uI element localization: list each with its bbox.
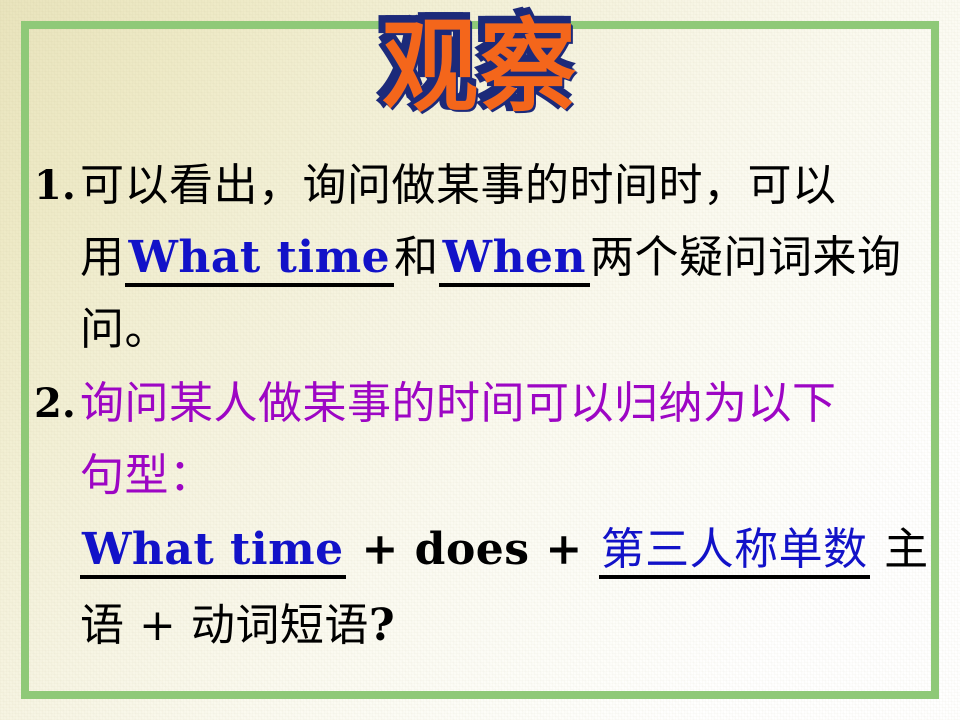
pattern-subject-verb-phrase: 语 + 动词短语	[80, 600, 369, 651]
pattern-plus-2: +	[530, 524, 599, 575]
answer-blank-when: When	[439, 236, 590, 287]
item1-line-3: 问。	[80, 294, 924, 366]
list-item-2-marker: 2.	[34, 368, 80, 440]
item1-prefix-yong: 用	[80, 232, 125, 283]
item1-line-1-text: 可以看出，询问做某事的时间时，可以	[80, 160, 837, 211]
page-title: 观察	[382, 14, 578, 121]
item2-line-2: 句型：	[80, 440, 929, 512]
item1-suffix-text: 两个疑问词来询	[590, 232, 902, 283]
pattern-question-mark: ?	[369, 600, 395, 651]
item1-line-2: 用What time 和When 两个疑问词来询	[80, 222, 924, 294]
answer-blank-what-time: What time	[125, 236, 395, 287]
content-list: 1. 可以看出，询问做某事的时间时，可以 用What time 和When 两个…	[34, 150, 924, 666]
list-item-1: 1. 可以看出，询问做某事的时间时，可以 用What time 和When 两个…	[34, 150, 924, 366]
list-item-1-marker: 1.	[34, 150, 80, 222]
list-item-2: 2. 询问某人做某事的时间可以归纳为以下 句型： What time + doe…	[34, 368, 924, 664]
item2-line-1-text: 询问某人做某事的时间可以归纳为以下	[80, 378, 837, 429]
item2-line-1: 询问某人做某事的时间可以归纳为以下	[80, 368, 929, 440]
item2-line-2-text: 句型：	[80, 450, 214, 501]
pattern-subject-char: 主	[870, 524, 929, 575]
pattern-third-person-singular: 第三人称单数	[599, 528, 870, 579]
item1-conjunction-he: 和	[394, 232, 439, 283]
list-item-2-lines: 询问某人做某事的时间可以归纳为以下 句型： What time + does +…	[80, 368, 929, 664]
sentence-pattern-line-1: What time + does + 第三人称单数 主	[80, 512, 929, 588]
pattern-plus-1: +	[346, 524, 415, 575]
pattern-does: does	[415, 524, 530, 575]
pattern-what-time: What time	[80, 528, 346, 579]
item1-line-1: 可以看出，询问做某事的时间时，可以	[80, 150, 924, 222]
list-item-1-lines: 可以看出，询问做某事的时间时，可以 用What time 和When 两个疑问词…	[80, 150, 924, 366]
slide-canvas: 观察 1. 可以看出，询问做某事的时间时，可以 用What time 和When…	[0, 0, 960, 720]
sentence-pattern-line-2: 语 + 动词短语?	[80, 588, 929, 664]
item1-line-3-text: 问。	[80, 304, 169, 355]
title-area: 观察	[0, 14, 960, 144]
